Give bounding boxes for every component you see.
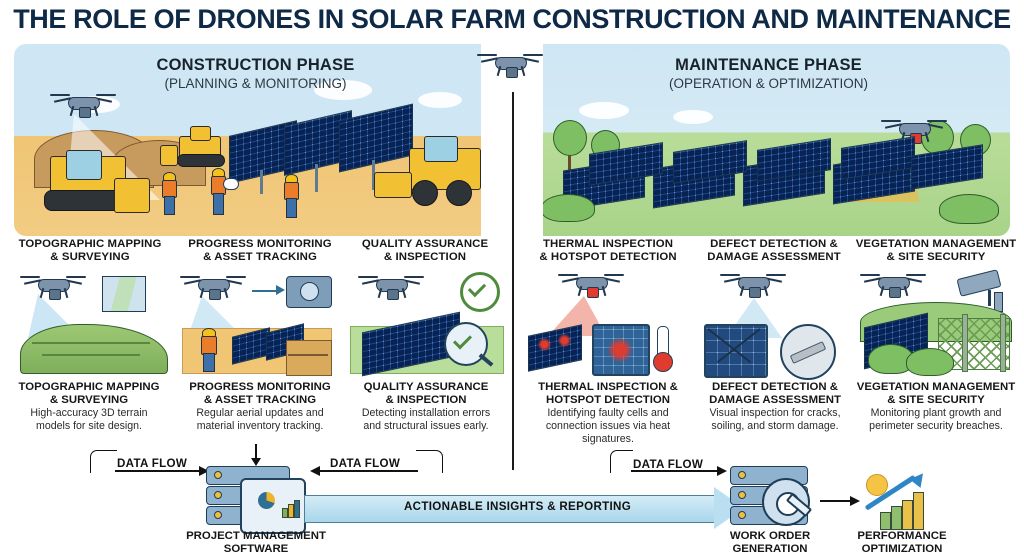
worker-legs [203, 353, 215, 372]
contour-terrain-icon [20, 324, 168, 374]
column-description-thermal-inspection: Identifying faulty cells and connection … [520, 407, 696, 446]
data-flow-label-right: DATA FLOW [633, 458, 703, 471]
fence-post [962, 314, 968, 372]
description-line-2: material inventory tracking. [174, 420, 346, 433]
arrow-head-icon [850, 496, 860, 506]
phase-divider [512, 92, 514, 470]
worker-legs [286, 198, 297, 218]
bulldozer-track [177, 154, 225, 167]
heading-line-2: & ASSET TRACKING [176, 251, 344, 264]
panel-post [260, 170, 263, 194]
heading-line-2: DAMAGE ASSESSMENT [694, 251, 854, 264]
icon-group-defect-detection [698, 266, 856, 378]
cctv-mount-icon [988, 290, 991, 306]
tablet-icon [223, 178, 239, 190]
heading-line-1: THERMAL INSPECTION [522, 238, 694, 251]
drone-scanning-icon [24, 272, 86, 302]
node-label-line-1: PROJECT MANAGEMENT [186, 530, 326, 543]
description-line-1: Monitoring plant growth and [848, 407, 1024, 420]
panel-post [315, 164, 318, 192]
label-line-2: & INSPECTION [344, 394, 508, 407]
contour-line [32, 342, 150, 344]
description-line-2: soiling, and storm damage. [692, 420, 858, 433]
node-label-work-order-generation: WORK ORDER GENERATION [714, 530, 826, 557]
icon-group-quality-assurance [348, 266, 508, 378]
drone-icon [362, 272, 424, 302]
wheel-loader-cab [424, 136, 458, 162]
description-line-1: Detecting installation errors [342, 407, 510, 420]
icon-group-progress-monitoring [180, 266, 344, 378]
column-label-progress-monitoring: PROGRESS MONITORING & ASSET TRACKING [176, 381, 344, 408]
node-label-performance-optimization: PERFORMANCE OPTIMIZATION [836, 530, 968, 557]
description-line-2: connection issues via heat [520, 420, 696, 433]
cloud-icon [673, 110, 713, 124]
connector-right-line [318, 470, 418, 472]
solar-panel-icon [673, 140, 747, 184]
heading-line-1: DEFECT DETECTION & [694, 238, 854, 251]
connector-right-hook [416, 450, 443, 473]
phase-title-construction: CONSTRUCTION PHASE [14, 56, 497, 75]
hotspot-marker [558, 334, 571, 347]
node-label-line-1: WORK ORDER [714, 530, 826, 543]
icon-group-vegetation-management [854, 266, 1020, 378]
description-line-3: signatures. [520, 433, 696, 446]
arrow-head-icon [717, 466, 727, 476]
bulldozer-blade [114, 178, 150, 213]
bar-chart-icon [891, 506, 902, 530]
column-heading-progress-monitoring: PROGRESS MONITORING & ASSET TRACKING [176, 238, 344, 265]
thermometer-bulb-icon [653, 352, 673, 372]
node-label-line-2: SOFTWARE [186, 543, 326, 556]
arrow-head-icon [276, 285, 285, 295]
drone-icon [54, 90, 116, 120]
tree-icon [553, 120, 587, 156]
wheel-loader-wheel [412, 180, 438, 206]
column-heading-quality-assurance: QUALITY ASSURANCE & INSPECTION [344, 238, 506, 265]
growth-arrow-head-icon [909, 469, 928, 488]
bar-chart-icon [913, 492, 924, 530]
connector-maintenance-hook [610, 450, 633, 473]
label-line-2: & SITE SECURITY [850, 394, 1022, 407]
hero-panel-maintenance: MAINTENANCE PHASE (OPERATION & OPTIMIZAT… [527, 44, 1010, 236]
bulldozer-cab [66, 150, 102, 180]
column-heading-topographic-mapping: TOPOGRAPHIC MAPPING & SURVEYING [6, 238, 174, 265]
column-description-progress-monitoring: Regular aerial updates and material inve… [174, 407, 346, 433]
column-label-vegetation-management: VEGETATION MANAGEMENT & SITE SECURITY [850, 381, 1022, 408]
node-label-line-1: PERFORMANCE [836, 530, 968, 543]
phase-subtitle-maintenance: (OPERATION & OPTIMIZATION) [527, 76, 1010, 91]
arrow-head-icon [251, 458, 261, 466]
bar-chart-icon [880, 512, 891, 530]
solar-panel-icon [911, 144, 983, 189]
phase-title-maintenance: MAINTENANCE PHASE [527, 56, 1010, 75]
icon-group-topographic-mapping [10, 266, 174, 378]
description-line-1: Identifying faulty cells and [520, 407, 696, 420]
worker-legs [164, 196, 175, 215]
folded-map-icon [102, 276, 146, 312]
column-heading-vegetation-management: VEGETATION MANAGEMENT & SITE SECURITY [850, 238, 1022, 265]
worker-legs [213, 193, 224, 215]
connector-left-hook [90, 450, 117, 473]
actionable-insights-label: ACTIONABLE INSIGHTS & REPORTING [404, 500, 631, 513]
description-line-2: perimeter security breaches. [848, 420, 1024, 433]
arrow-head-icon [310, 466, 320, 476]
label-line-1: PROGRESS MONITORING [176, 381, 344, 394]
page-title: THE ROLE OF DRONES IN SOLAR FARM CONSTRU… [0, 4, 1024, 35]
label-line-1: DEFECT DETECTION & [694, 381, 856, 394]
thermal-drone-icon [562, 270, 624, 300]
contour-line [42, 354, 140, 356]
column-heading-defect-detection: DEFECT DETECTION & DAMAGE ASSESSMENT [694, 238, 854, 265]
wheel-loader-wheel [446, 180, 472, 206]
heatmap-hotspot [608, 338, 632, 362]
column-description-quality-assurance: Detecting installation errors and struct… [342, 407, 510, 433]
hotspot-marker [538, 338, 551, 351]
heading-line-2: & SITE SECURITY [850, 251, 1022, 264]
label-line-1: QUALITY ASSURANCE [344, 381, 508, 394]
pie-chart-icon [258, 492, 275, 509]
drone-camera-icon [184, 272, 246, 302]
bulldozer-cab [190, 126, 211, 141]
infographic-root: THE ROLE OF DRONES IN SOLAR FARM CONSTRU… [0, 0, 1024, 559]
hero-panel-construction: CONSTRUCTION PHASE (PLANNING & MONITORIN… [14, 44, 497, 236]
cloud-icon [579, 102, 629, 119]
phase-subtitle-construction: (PLANNING & MONITORING) [14, 76, 497, 91]
heading-line-1: QUALITY ASSURANCE [344, 238, 506, 251]
center-drone-icon [481, 50, 543, 80]
description-line-2: and structural issues early. [342, 420, 510, 433]
bar-chart-icon [902, 500, 913, 530]
label-line-1: VEGETATION MANAGEMENT [850, 381, 1022, 394]
data-flow-label-center: DATA FLOW [330, 457, 400, 470]
bulldozer-blade [160, 145, 178, 166]
drone-camera-icon [724, 270, 786, 300]
bush-icon [541, 194, 595, 222]
column-heading-thermal-inspection: THERMAL INSPECTION & HOTSPOT DETECTION [522, 238, 694, 265]
column-label-topographic-mapping: TOPOGRAPHIC MAPPING & SURVEYING [4, 381, 174, 408]
description-line-1: High-accuracy 3D terrain [4, 407, 174, 420]
heading-line-2: & SURVEYING [6, 251, 174, 264]
label-line-2: DAMAGE ASSESSMENT [694, 394, 856, 407]
column-description-topographic-mapping: High-accuracy 3D terrain models for site… [4, 407, 174, 433]
label-line-2: & ASSET TRACKING [176, 394, 344, 407]
node-label-line-2: OPTIMIZATION [836, 543, 968, 556]
bar-chart-icon [294, 500, 300, 518]
description-line-1: Regular aerial updates and [174, 407, 346, 420]
column-label-thermal-inspection: THERMAL INSPECTION & HOTSPOT DETECTION [522, 381, 694, 408]
crate-icon [286, 340, 332, 376]
connector-performance-line [820, 500, 852, 502]
crate-brace [288, 354, 328, 356]
heading-line-1: PROGRESS MONITORING [176, 238, 344, 251]
fence-post [1000, 314, 1006, 372]
node-label-project-management-software: PROJECT MANAGEMENT SOFTWARE [186, 530, 326, 557]
hotspot-panel-icon [528, 324, 582, 371]
label-line-1: TOPOGRAPHIC MAPPING [4, 381, 174, 394]
column-description-defect-detection: Visual inspection for cracks, soiling, a… [692, 407, 858, 433]
heading-line-2: & INSPECTION [344, 251, 506, 264]
description-line-2: models for site design. [4, 420, 174, 433]
connector-left-line [115, 470, 201, 472]
label-line-2: & SURVEYING [4, 394, 174, 407]
heading-line-1: VEGETATION MANAGEMENT [850, 238, 1022, 251]
drone-icon [864, 270, 926, 300]
heading-line-1: TOPOGRAPHIC MAPPING [6, 238, 174, 251]
camera-lens-icon [300, 282, 319, 301]
wheel-loader-bucket [374, 172, 412, 198]
arrow-to-camera-icon [252, 290, 278, 292]
column-label-quality-assurance: QUALITY ASSURANCE & INSPECTION [344, 381, 508, 408]
bush-icon [939, 194, 999, 224]
icon-group-thermal-inspection [524, 266, 692, 378]
cloud-icon [418, 92, 462, 108]
column-label-defect-detection: DEFECT DETECTION & DAMAGE ASSESSMENT [694, 381, 856, 408]
label-line-2: HOTSPOT DETECTION [522, 394, 694, 407]
label-line-1: THERMAL INSPECTION & [522, 381, 694, 394]
bush-icon [906, 348, 954, 376]
description-line-1: Visual inspection for cracks, [692, 407, 858, 420]
heading-line-2: & HOTSPOT DETECTION [522, 251, 694, 264]
column-description-vegetation-management: Monitoring plant growth and perimeter se… [848, 407, 1024, 433]
data-flow-label-left: DATA FLOW [117, 457, 187, 470]
node-label-line-2: GENERATION [714, 543, 826, 556]
